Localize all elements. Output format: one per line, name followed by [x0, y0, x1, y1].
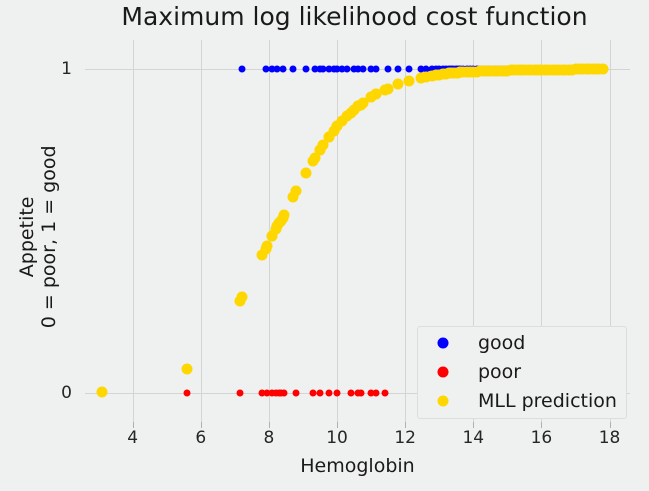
y-tick-label-1: 1: [0, 59, 72, 79]
x-tick-label-18: 18: [599, 428, 621, 448]
y-axis-label-line2: 0 = poor, 1 = good: [39, 82, 61, 392]
y-axis-label: Appetite 0 = poor, 1 = good: [17, 82, 61, 392]
data-point: [262, 240, 273, 251]
legend-label: poor: [478, 358, 521, 387]
legend-label: good: [478, 329, 525, 358]
x-tick-label-10: 10: [326, 428, 348, 448]
x-tick-label-8: 8: [264, 428, 275, 448]
y-axis-label-line1: Appetite: [17, 82, 39, 392]
data-point: [597, 64, 608, 75]
x-tick-label-16: 16: [531, 428, 553, 448]
legend-item-mll-prediction[interactable]: MLL prediction: [418, 387, 628, 416]
legend-item-good[interactable]: good: [418, 329, 628, 358]
data-point: [403, 76, 414, 87]
data-point: [291, 185, 302, 196]
x-axis-label: Hemoglobin: [85, 455, 630, 477]
x-tick-label-14: 14: [462, 428, 484, 448]
legend-item-poor[interactable]: poor: [418, 358, 628, 387]
data-point: [301, 167, 312, 178]
chart-figure: Maximum log likelihood cost function 468…: [0, 0, 649, 491]
data-point: [97, 386, 108, 397]
x-tick-label-12: 12: [394, 428, 416, 448]
data-point: [236, 292, 247, 303]
chart-legend[interactable]: goodpoorMLL prediction: [417, 326, 627, 419]
data-point: [182, 363, 193, 374]
x-tick-label-4: 4: [127, 428, 138, 448]
legend-marker-icon: [438, 396, 449, 407]
legend-label: MLL prediction: [478, 387, 617, 416]
chart-title: Maximum log likelihood cost function: [0, 2, 649, 31]
legend-marker-icon: [438, 338, 449, 349]
x-tick-label-6: 6: [195, 428, 206, 448]
data-point: [279, 209, 290, 220]
legend-marker-icon: [438, 367, 449, 378]
